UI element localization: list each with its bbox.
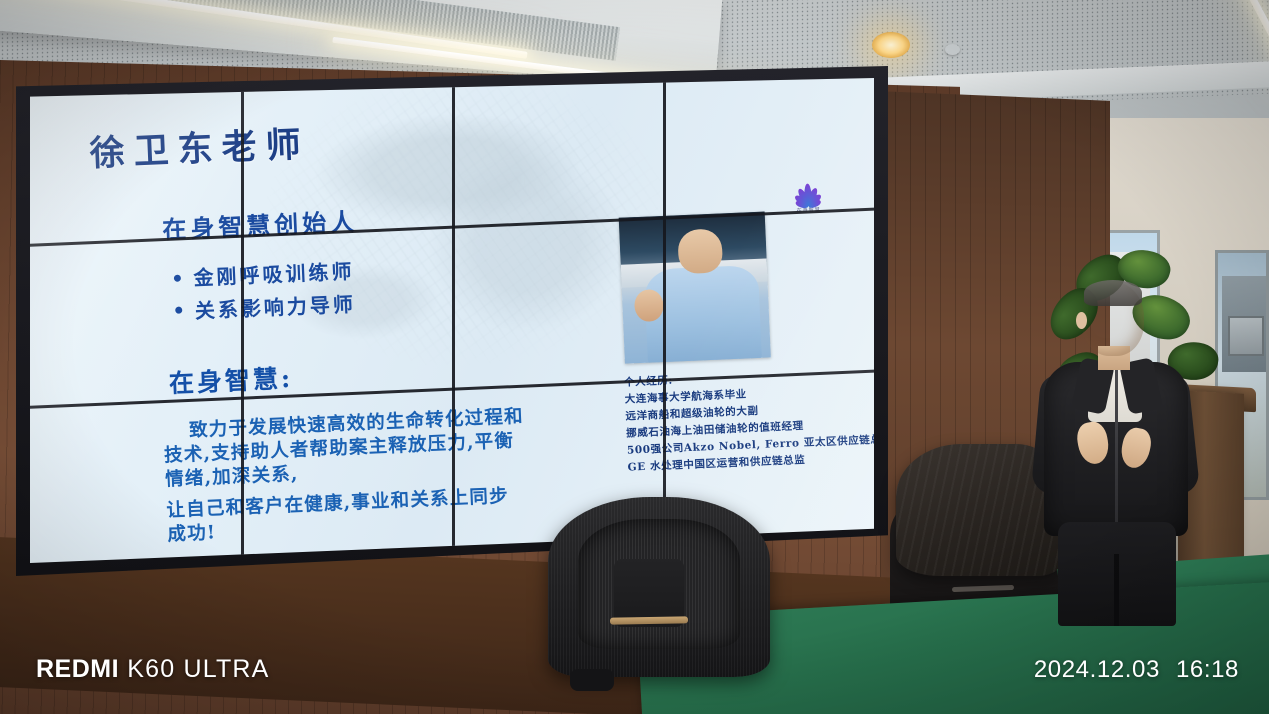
exterior-ac-unit [1228, 316, 1264, 356]
watermark-brand: REDMI [36, 655, 119, 683]
presenter-zipper [1115, 368, 1118, 534]
watermark-model: K60 ULTRA [127, 655, 269, 683]
presenter-ear [1076, 312, 1087, 329]
slide-bio-block: 个人经历: 大连海事大学航海系毕业 远洋商船和超级油轮的大副 挪威石油海上油田储… [624, 363, 874, 476]
timestamp-date: 2024.12.03 [1034, 656, 1160, 683]
ceiling-downlight [872, 32, 910, 58]
list-item: 关系影响力导师 [172, 288, 356, 326]
smoke-detector [945, 44, 960, 55]
office-chair [548, 497, 770, 714]
timestamp-time: 16:18 [1176, 656, 1239, 683]
video-wall-screen[interactable]: 徐卫东老师 在身智慧创始人 金刚呼吸训练师 关系影响力导师 在身智慧: 致力于发… [30, 76, 874, 566]
lotus-icon [785, 174, 830, 206]
lotus-logo: 在身智慧 [781, 174, 835, 214]
chair-wood-accent [610, 616, 688, 624]
photo-scene: 徐卫东老师 在身智慧创始人 金刚呼吸训练师 关系影响力导师 在身智慧: 致力于发… [0, 0, 1269, 714]
timestamp-watermark: 2024.12.0316:18 [1034, 656, 1239, 684]
device-watermark: REDMI K60 ULTRA [36, 655, 270, 684]
presenter-hair [1084, 280, 1142, 306]
chair-post [570, 669, 614, 691]
slide-portrait-photo [619, 211, 771, 363]
presentation-slide: 徐卫东老师 在身智慧创始人 金刚呼吸训练师 关系影响力导师 在身智慧: 致力于发… [30, 76, 874, 566]
presenter [1036, 282, 1196, 622]
slide-section-heading: 在身智慧: [168, 359, 294, 400]
presenter-leg-gap [1114, 554, 1119, 626]
slide-title: 徐卫东老师 [89, 116, 311, 176]
slide-bullet-list: 金刚呼吸训练师 关系影响力导师 [171, 256, 357, 329]
